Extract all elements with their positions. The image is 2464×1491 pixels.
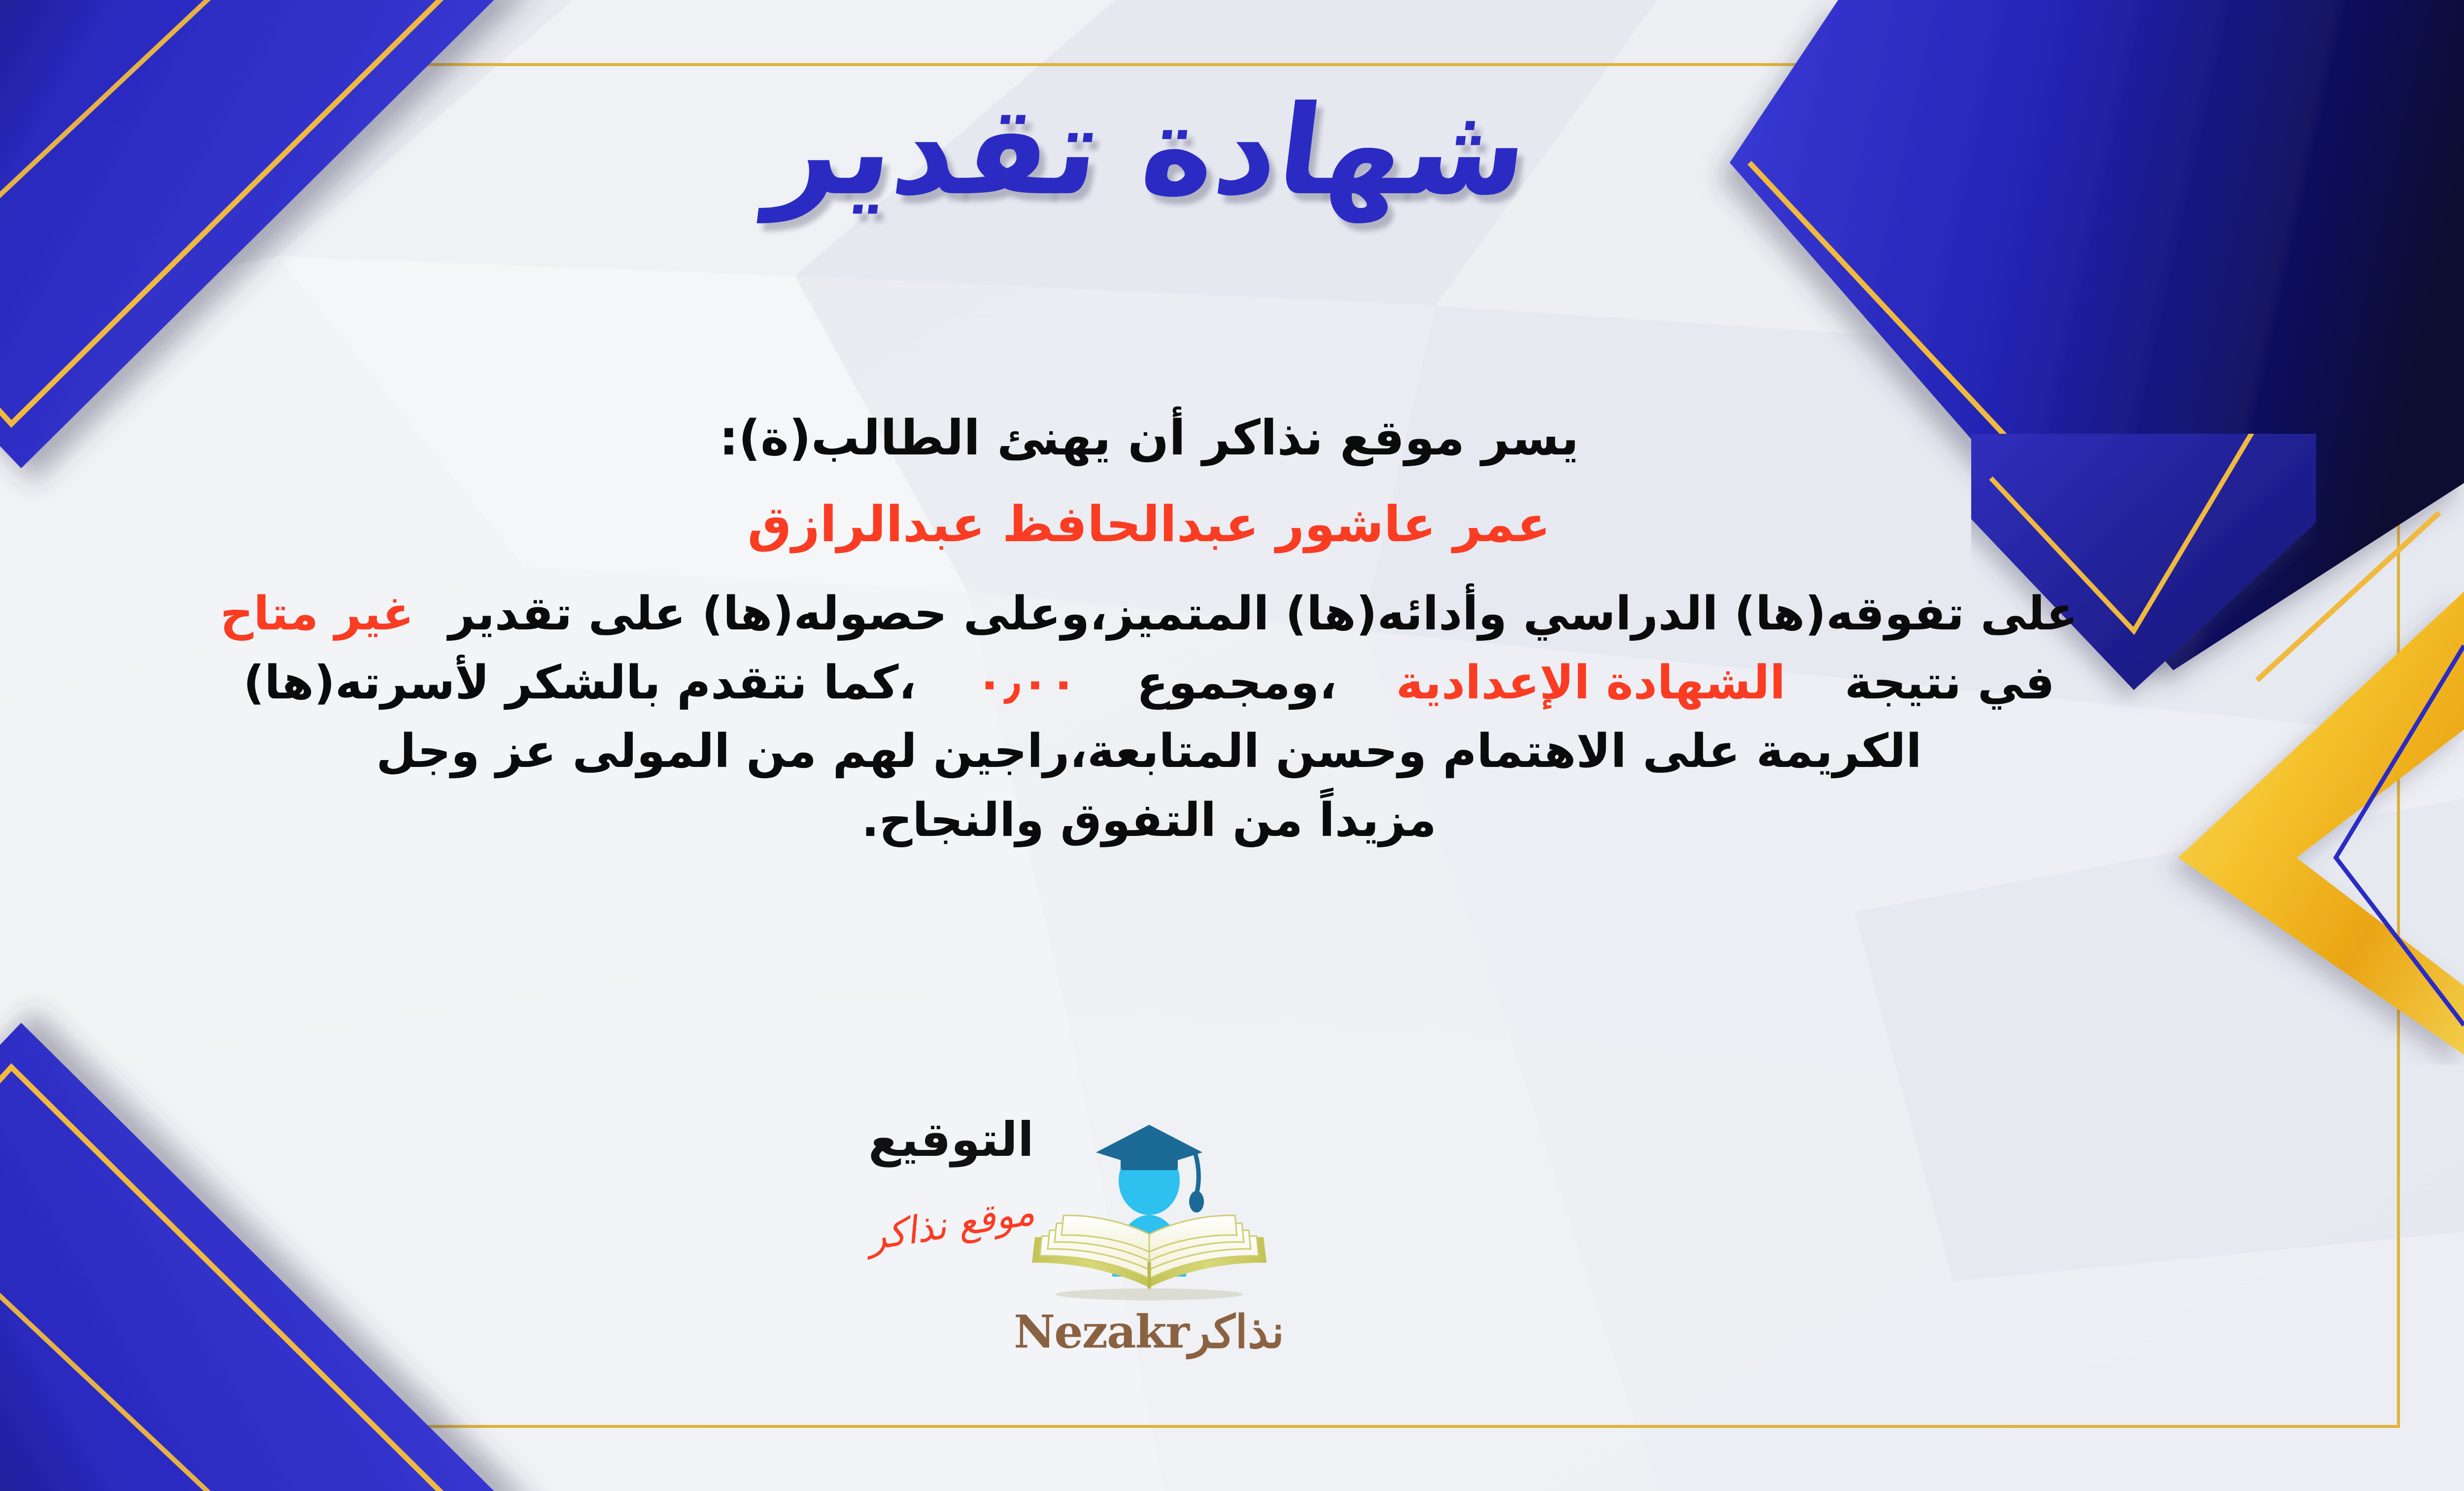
closing-line: مزيداً من التفوق والنجاح. — [0, 788, 2375, 853]
result-line: في نتيجةالشهادة الإعدادية،ومجموع٠٫٠٠،كما… — [0, 650, 2375, 716]
certificate-page: شهادة تقدير يسر موقع نذاكر أن يهنئ الطال… — [0, 0, 2464, 1491]
thanks-text: ،كما نتقدم بالشكر لأسرته(ها) — [243, 656, 917, 710]
exam-name: الشهادة الإعدادية — [1396, 656, 1785, 710]
total-value: ٠٫٠٠ — [975, 656, 1077, 710]
certificate-title: شهادة تقدير — [761, 74, 1537, 228]
grade-value: غير متاح — [220, 587, 414, 641]
certificate-footer: التوقيع موقع نذاكر — [0, 1114, 2464, 1429]
certificate-title-block: شهادة تقدير — [0, 74, 2464, 228]
total-label: ،ومجموع — [1137, 656, 1337, 710]
intro-line: يسر موقع نذاكر أن يهنئ الطالب(ة): — [0, 404, 2375, 473]
result-prefix: في نتيجة — [1845, 656, 2054, 710]
achievement-line: على تفوقه(ها) الدراسي وأدائه(ها) المتميز… — [0, 581, 2375, 647]
family-thanks-line: الكريمة على الاهتمام وحسن المتابعة،راجين… — [0, 719, 2375, 784]
brand-name-latin: Nezakr — [1014, 1305, 1189, 1358]
student-name: عمر عاشور عبدالحافظ عبدالرازق — [0, 489, 2375, 559]
certificate-body: يسر موقع نذاكر أن يهنئ الطالب(ة): عمر عا… — [0, 404, 2375, 856]
graduate-book-logo-icon — [996, 1114, 1302, 1306]
brand-name-arabic: نذاكر — [1189, 1305, 1284, 1358]
achievement-text: على تفوقه(ها) الدراسي وأدائه(ها) المتميز… — [448, 587, 2078, 641]
brand-logo-block: نذاكرNezakr — [908, 1114, 1391, 1354]
brand-wordmark: نذاكرNezakr — [908, 1309, 1391, 1354]
